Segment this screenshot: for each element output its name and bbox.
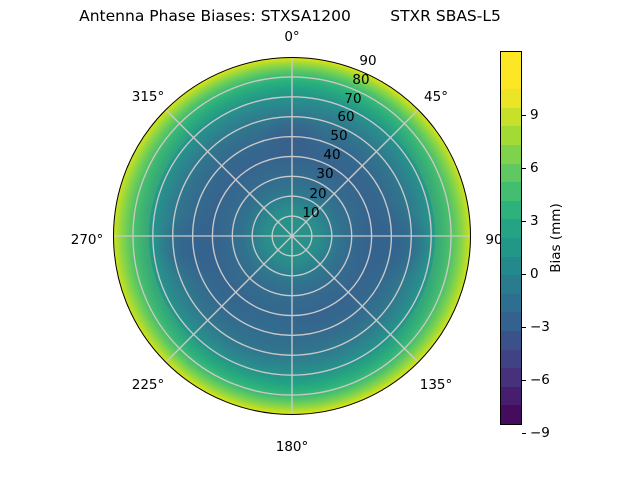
- angular-tick-315: 315°: [132, 89, 165, 105]
- radial-tick-80: 80: [352, 72, 369, 88]
- colorbar-gradient: [500, 51, 522, 425]
- colorbar-ticklabel-m3: −3: [530, 319, 550, 335]
- radial-tick-40: 40: [323, 147, 340, 163]
- angular-tick-135: 135°: [420, 377, 453, 393]
- colorbar-ticklabel-9: 9: [530, 107, 539, 123]
- colorbar-band: [501, 201, 521, 220]
- colorbar-tick-m3: [522, 327, 526, 328]
- figure-canvas: Antenna Phase Biases: STXSA1200 STXR SBA…: [0, 0, 640, 480]
- colorbar-band: [501, 312, 521, 331]
- colorbar-tick-6: [522, 168, 526, 169]
- page-title: Antenna Phase Biases: STXSA1200 STXR SBA…: [0, 7, 580, 25]
- colorbar-band: [501, 126, 521, 145]
- colorbar-tick-3: [522, 221, 526, 222]
- angular-tick-45: 45°: [424, 89, 448, 105]
- colorbar-band: [501, 108, 521, 127]
- colorbar[interactable]: 9 6 3 0 −3 −6 −9: [500, 51, 522, 425]
- colorbar-band: [501, 238, 521, 257]
- radial-tick-10: 10: [302, 205, 319, 221]
- colorbar-band: [501, 164, 521, 183]
- colorbar-tick-0: [522, 274, 526, 275]
- colorbar-band: [501, 52, 521, 71]
- angular-tick-0: 0°: [284, 29, 299, 45]
- radial-tick-70: 70: [344, 91, 361, 107]
- colorbar-band: [501, 368, 521, 387]
- colorbar-ticklabel-m6: −6: [530, 372, 550, 388]
- angular-tick-270: 270°: [71, 232, 104, 248]
- colorbar-tick-m9: [522, 433, 526, 434]
- colorbar-band: [501, 145, 521, 164]
- colorbar-band: [501, 331, 521, 350]
- angular-tick-180: 180°: [276, 439, 309, 455]
- colorbar-tick-m6: [522, 380, 526, 381]
- radial-tick-30: 30: [316, 166, 333, 182]
- colorbar-band: [501, 350, 521, 369]
- colorbar-ticklabel-6: 6: [530, 160, 539, 176]
- radial-tick-60: 60: [337, 109, 354, 125]
- polar-axes[interactable]: [113, 57, 471, 415]
- polar-heatmap-svg: [113, 57, 471, 415]
- polar-spoke-grid: [113, 57, 471, 415]
- colorbar-band: [501, 257, 521, 276]
- colorbar-band: [501, 387, 521, 406]
- colorbar-ticklabel-m9: −9: [530, 425, 550, 441]
- radial-tick-90: 90: [359, 53, 376, 69]
- colorbar-axis-label: Bias (mm): [548, 203, 564, 272]
- colorbar-band: [501, 275, 521, 294]
- angular-tick-225: 225°: [132, 377, 165, 393]
- colorbar-band: [501, 71, 521, 90]
- colorbar-ticklabel-3: 3: [530, 213, 539, 229]
- radial-tick-20: 20: [309, 186, 326, 202]
- colorbar-band: [501, 294, 521, 313]
- colorbar-band: [501, 219, 521, 238]
- colorbar-band: [501, 405, 521, 424]
- polar-data-disc: [113, 57, 471, 415]
- colorbar-tick-9: [522, 115, 526, 116]
- radial-tick-50: 50: [330, 128, 347, 144]
- colorbar-band: [501, 182, 521, 201]
- colorbar-band: [501, 89, 521, 108]
- colorbar-ticklabel-0: 0: [530, 266, 539, 282]
